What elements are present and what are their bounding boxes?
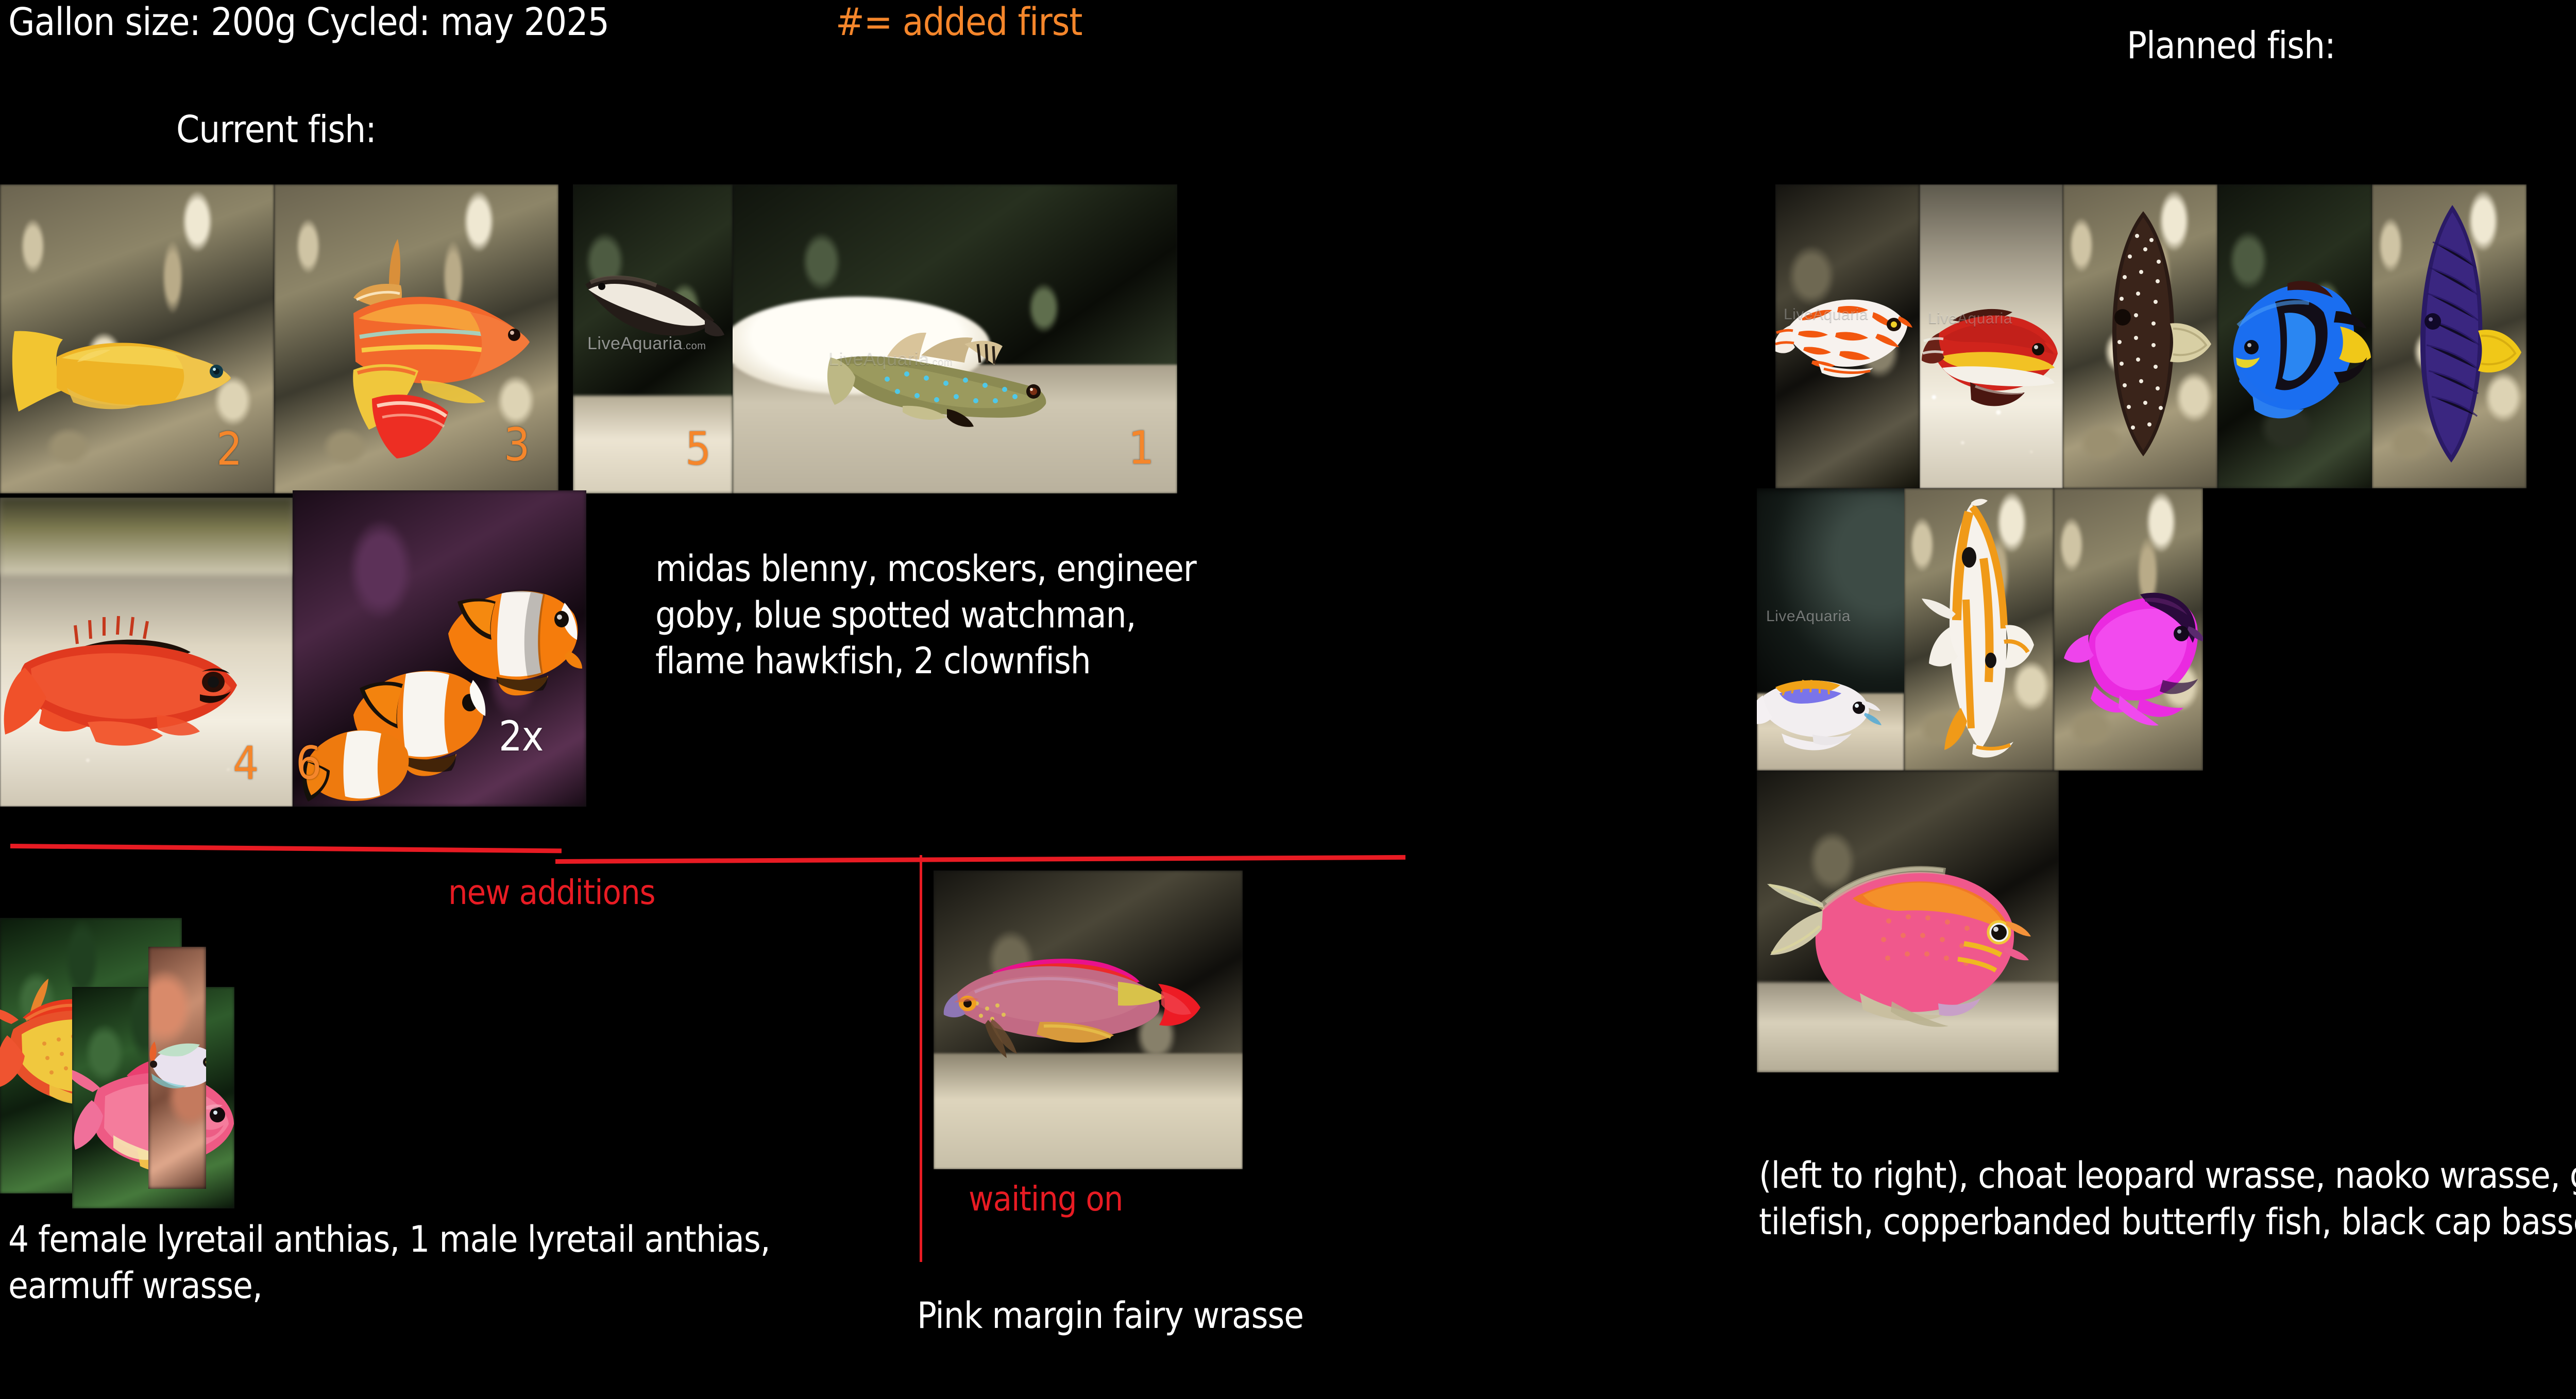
page-title-text: Gallon size: 200g Cycled: may 2025 <box>8 0 609 44</box>
current-fish-heading: Current fish: <box>176 111 376 148</box>
fish-photo-clownfish[interactable]: 6 2x <box>293 490 586 807</box>
oreni-tilefish-illustration <box>1757 661 1890 754</box>
new-additions-caption: 4 female lyretail anthias, 1 male lyreta… <box>8 1217 879 1309</box>
fish-count-value: 3 <box>504 418 529 471</box>
fish-photo-choat-leopard-wrasse[interactable]: LiveAquaria <box>1775 184 1920 488</box>
fat-head-anthias-illustration <box>1760 849 2059 1024</box>
fish-photo-copperbanded-butterfly-fish[interactable] <box>1904 488 2054 771</box>
new-additions-caption-text: 4 female lyretail anthias, 1 male lyreta… <box>8 1218 770 1307</box>
clownfish-multiplier-label: 2x <box>499 716 543 757</box>
fish-photo-gem-tang[interactable] <box>2063 184 2217 488</box>
waiting-on-text: waiting on <box>969 1179 1123 1219</box>
fish-photo-black-cap-basslet[interactable] <box>2054 488 2203 771</box>
fish-photo-fat-head-anthias[interactable] <box>1757 771 2059 1072</box>
fish-count-label: 6 <box>296 741 321 786</box>
page-title: Gallon size: 200g Cycled: may 2025 <box>8 3 609 41</box>
fish-count-label: 3 <box>504 422 529 468</box>
naoko-wrasse-illustration <box>1922 294 2061 417</box>
clownfish-multiplier-value: 2x <box>499 712 543 760</box>
regal-blue-tang-illustration <box>2218 262 2372 432</box>
planned-fish-heading: Planned fish: <box>2127 27 2335 64</box>
gem-tang-illustration <box>2068 200 2217 468</box>
fish-count-value: 6 <box>296 737 321 790</box>
choat-leopard-wrasse-illustration <box>1775 278 1917 397</box>
current-fish-heading-text: Current fish: <box>176 108 376 151</box>
waiting-on-caption-text: Pink margin fairy wrasse <box>917 1294 1303 1337</box>
fish-photo-midas-blenny[interactable]: 2 <box>0 184 274 493</box>
fish-count-value: 2 <box>216 422 242 475</box>
fish-photo-flame-hawkfish[interactable]: 4 <box>0 498 293 807</box>
fish-photo-purple-tang[interactable] <box>2372 184 2527 488</box>
fish-count-label: 5 <box>685 426 710 472</box>
fish-count-value: 1 <box>1128 421 1154 474</box>
fish-photo-naoko-wrasse[interactable]: LiveAquaria <box>1920 184 2063 488</box>
midas-blenny-illustration <box>5 311 247 439</box>
pink-margin-fairy-wrasse-illustration <box>943 925 1221 1080</box>
fish-photo-blue-spotted-watchman-goby[interactable]: LiveAquaria.com 1 <box>733 184 1177 493</box>
fish-count-label: 1 <box>1128 425 1154 471</box>
planned-fish-caption-text: (left to right), choat leopard wrasse, n… <box>1759 1154 2576 1243</box>
fish-photo-regal-blue-tang[interactable] <box>2217 184 2372 488</box>
fish-photo-pink-margin-fairy-wrasse[interactable] <box>934 871 1243 1169</box>
rock-top-blur <box>0 498 293 575</box>
purple-tang-illustration <box>2375 196 2524 474</box>
fish-photo-mcoskers-wrasse[interactable]: 3 <box>274 184 558 493</box>
legend-added-first: #= added first <box>836 3 1082 41</box>
waiting-on-label: waiting on <box>969 1182 1123 1216</box>
waiting-on-caption: Pink margin fairy wrasse <box>917 1293 1303 1339</box>
fish-count-value: 5 <box>685 422 710 475</box>
copperbanded-butterfly-fish-illustration <box>1916 497 2044 764</box>
fish-photo-oreni-tilefish[interactable]: LiveAquaria <box>1757 488 1904 771</box>
black-cap-basslet-illustration <box>2062 570 2203 735</box>
planned-fish-heading-text: Planned fish: <box>2127 24 2335 67</box>
fish-count-label: 2 <box>216 426 242 472</box>
blue-spotted-watchman-goby-illustration <box>825 323 1093 437</box>
planned-fish-caption: (left to right), choat leopard wrasse, n… <box>1759 1153 2576 1245</box>
divider-line-left <box>10 844 562 853</box>
fish-count-value: 4 <box>233 737 258 790</box>
fish-photo-engineer-goby[interactable]: LiveAquaria.com 5 <box>573 184 733 493</box>
divider-line-vertical <box>920 855 922 1262</box>
divider-line-right <box>555 855 1405 864</box>
new-additions-text: new additions <box>448 873 655 912</box>
current-fish-caption: midas blenny, mcoskers, engineer goby, b… <box>655 546 1217 685</box>
engineer-goby-illustration <box>579 271 728 369</box>
fish-count-label: 4 <box>233 741 258 786</box>
fish-photo-earmuff-wrasse[interactable] <box>148 947 206 1189</box>
flame-hawkfish-illustration <box>0 607 268 772</box>
earmuff-wrasse-illustration <box>148 1028 206 1111</box>
legend-text: #= added first <box>836 0 1082 44</box>
new-additions-label: new additions <box>448 876 655 910</box>
current-fish-caption-text: midas blenny, mcoskers, engineer goby, b… <box>655 548 1196 682</box>
